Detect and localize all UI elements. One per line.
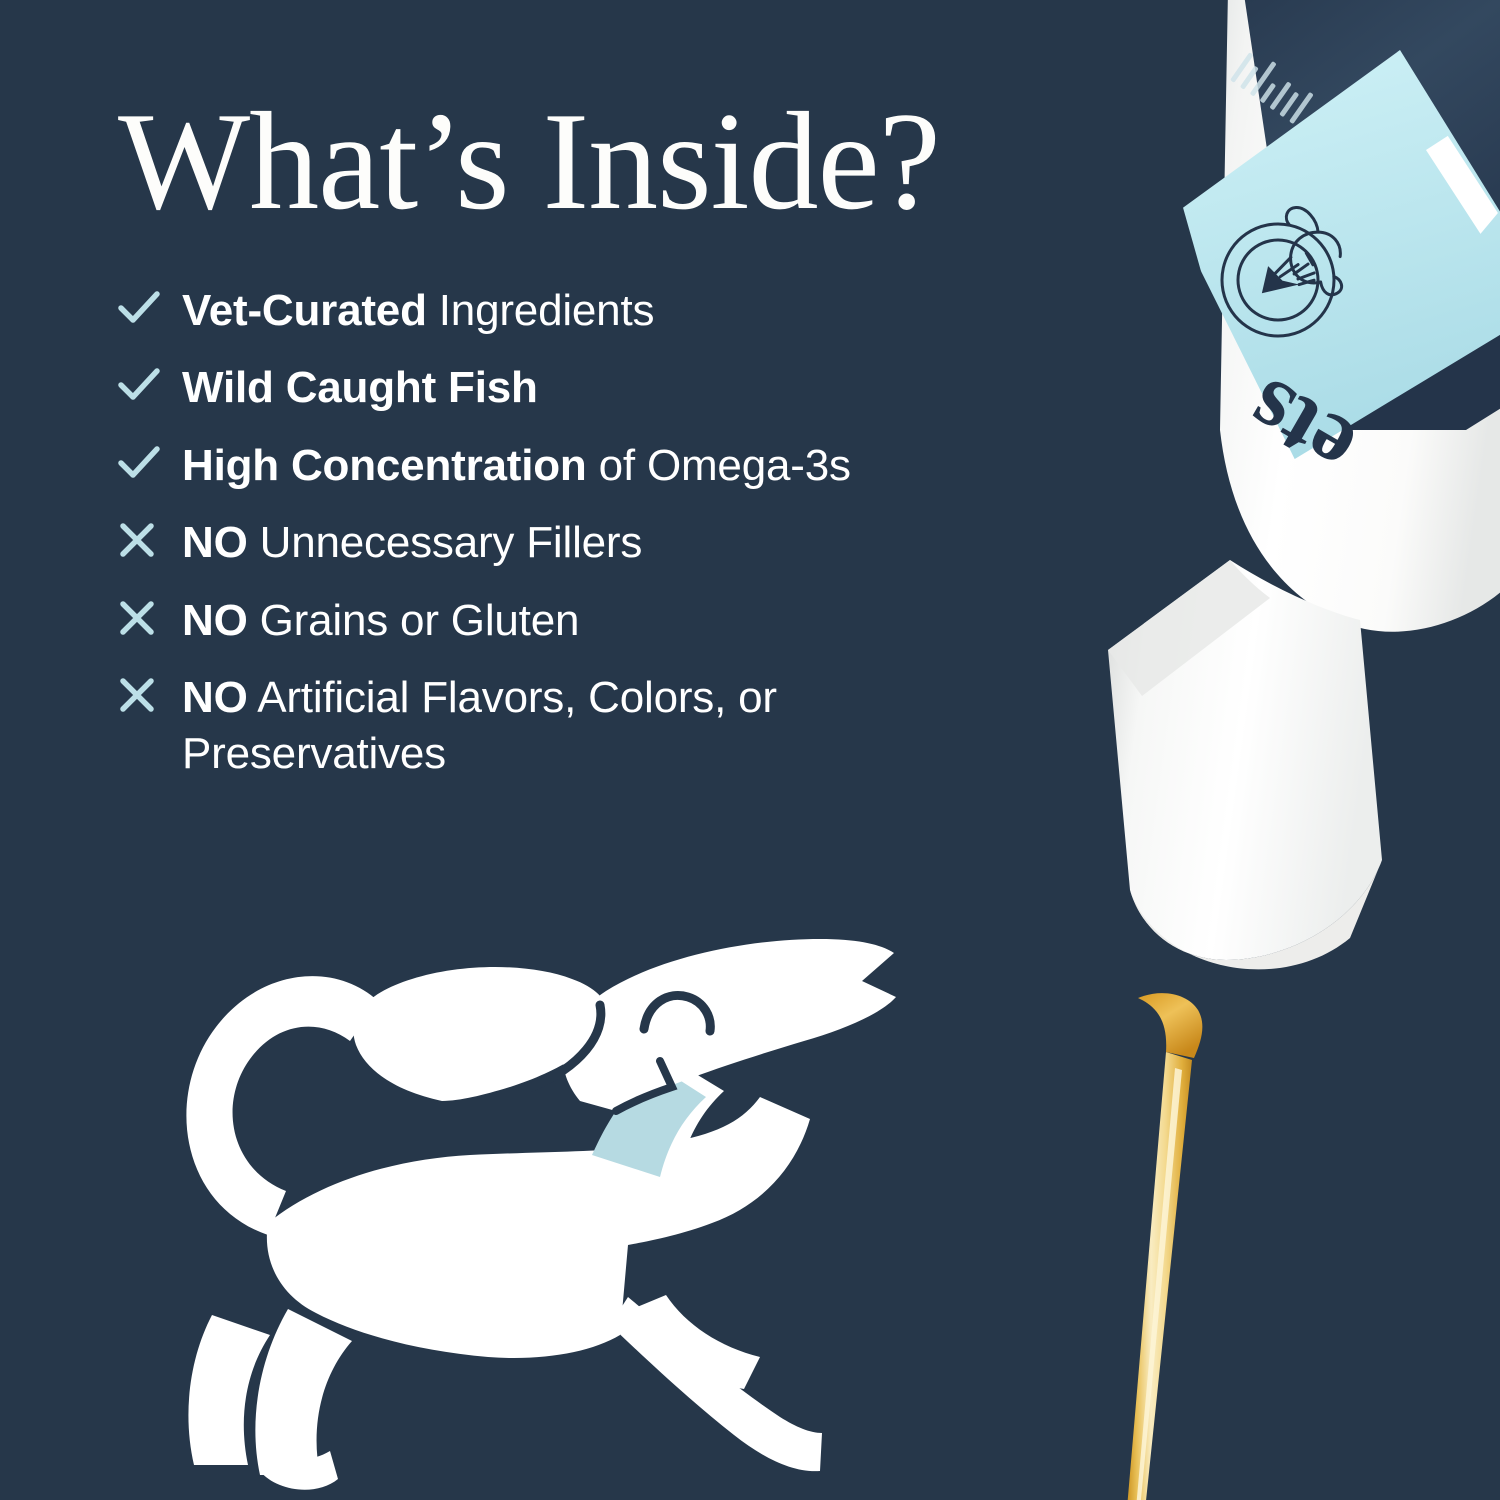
bottle-label-fine-print: [1230, 47, 1316, 124]
promo-image-canvas: ets What’s Inside? Vet-Curated Ingredien…: [0, 0, 1500, 1500]
list-item-label: NO Unnecessary Fillers: [182, 514, 642, 570]
bottle-cap: [1108, 560, 1382, 969]
dog-svg: [120, 905, 940, 1500]
check-icon: [108, 437, 182, 489]
list-item-label: Vet-Curated Ingredients: [182, 282, 654, 338]
cross-icon: [108, 592, 182, 644]
feature-list: Vet-Curated Ingredients Wild Caught Fish…: [108, 282, 1118, 802]
list-item: Wild Caught Fish: [108, 359, 1118, 415]
list-item-bold: NO: [182, 596, 248, 645]
list-item-label: NO Grains or Gluten: [182, 592, 579, 648]
list-item-bold: High Concentration: [182, 441, 587, 490]
list-item: Vet-Curated Ingredients: [108, 282, 1118, 338]
veterinarian-created-seal: [1200, 202, 1355, 357]
list-item: NO Artificial Flavors, Colors, or Preser…: [108, 669, 968, 781]
list-item-label: Wild Caught Fish: [182, 359, 538, 415]
list-item-rest: Grains or Gluten: [248, 596, 580, 645]
list-item-label: High Concentration of Omega-3s: [182, 437, 851, 493]
check-icon: [108, 282, 182, 334]
pet-line-art: [1261, 203, 1367, 301]
bottle-body: ets: [1130, 0, 1500, 632]
list-item: NO Unnecessary Fillers: [108, 514, 1118, 570]
list-item-bold: Vet-Curated: [182, 286, 427, 335]
page-title: What’s Inside?: [118, 92, 940, 232]
check-icon: [108, 359, 182, 411]
list-item-rest: of Omega-3s: [587, 441, 851, 490]
list-item-rest: Ingredients: [427, 286, 655, 335]
list-item-label: NO Artificial Flavors, Colors, or Preser…: [182, 669, 942, 781]
brand-logo-glyph: [1426, 136, 1500, 234]
dog-hind-leg-near: [255, 1309, 352, 1475]
list-item-bold: NO: [182, 673, 248, 722]
list-item: NO Grains or Gluten: [108, 592, 1118, 648]
list-item-rest: Artificial Flavors, Colors, or Preservat…: [182, 673, 777, 777]
fish-oil-stream: [1126, 993, 1202, 1500]
list-item-bold: NO: [182, 518, 248, 567]
list-item-bold: Wild Caught Fish: [182, 363, 538, 412]
cross-icon: [108, 514, 182, 566]
dog-body: [267, 1097, 810, 1358]
list-item: High Concentration of Omega-3s: [108, 437, 1118, 493]
dog-front-leg-near: [610, 1297, 822, 1471]
cross-icon: [108, 669, 182, 721]
running-dog-silhouette: [120, 905, 940, 1500]
dog-head: [563, 939, 896, 1111]
list-item-rest: Unnecessary Fillers: [248, 518, 643, 567]
bottle-label-word: ets: [1228, 359, 1372, 501]
